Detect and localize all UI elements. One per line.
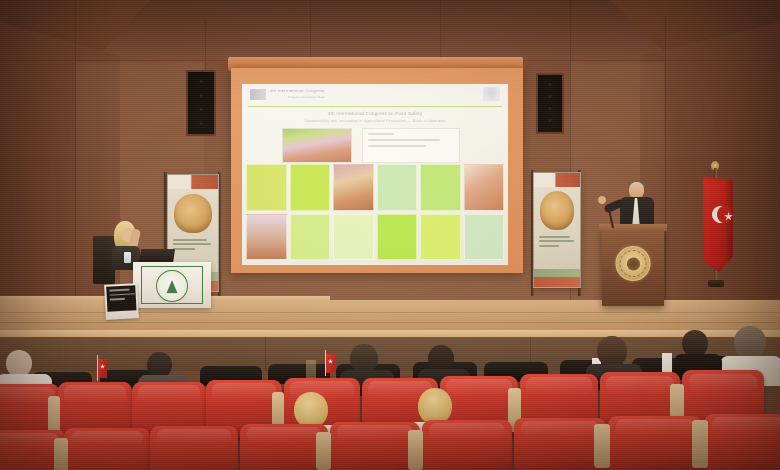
walnut-brain-icon: [540, 191, 575, 230]
slide-tile-photo: [333, 164, 374, 211]
slide-tile: [290, 164, 331, 211]
attendee-head: [682, 330, 708, 357]
banner-text: [539, 236, 576, 250]
turkish-flag-stand: [697, 168, 735, 298]
banner-strip: [534, 269, 580, 277]
slide-header-text: 4th International Congress: [270, 88, 325, 93]
slide-tile: [290, 214, 331, 261]
turkish-flag-icon: [326, 354, 335, 373]
slide-title: 4th International Congress on Food Safet…: [242, 111, 508, 116]
desk-flag-turkish-1: [94, 355, 107, 381]
slide-tile-photo: [246, 214, 287, 261]
wall-speaker-left-icon: [186, 70, 216, 136]
seat[interactable]: [514, 418, 606, 470]
seat[interactable]: [608, 416, 702, 470]
armrest: [54, 438, 68, 470]
slide-tile: [246, 164, 287, 211]
slide-header: 4th International Congress Program and A…: [242, 84, 508, 106]
slide-tile: [420, 214, 461, 261]
attendee-head: [6, 350, 32, 377]
seat[interactable]: [704, 414, 780, 470]
turkish-flag-icon: [98, 359, 107, 378]
seat[interactable]: [240, 424, 328, 470]
turkish-flag-icon: [703, 176, 733, 272]
banner-footer-bar: [534, 277, 580, 287]
slide-note-block: [362, 128, 460, 163]
projected-slide: 4th International Congress Program and A…: [242, 84, 508, 265]
podium-top-surface: [599, 224, 667, 231]
table-sign: [104, 283, 139, 320]
slide-left-logo-icon: [250, 89, 266, 100]
seat[interactable]: [150, 426, 238, 470]
presenter-hand: [598, 196, 606, 204]
seat[interactable]: [422, 420, 512, 470]
desk-flag-turkish-2: [322, 350, 335, 376]
slide-tile-grid: [246, 164, 504, 260]
registration-table: [133, 262, 211, 308]
seat[interactable]: [64, 428, 150, 470]
slide-tile: [377, 164, 418, 211]
banner-text: [173, 239, 213, 253]
attendee-hair: [294, 392, 328, 428]
slide-subtitle: Sustainability and Innovation in Agricul…: [242, 118, 508, 123]
attendee-head: [350, 344, 378, 373]
slide-divider: [248, 106, 502, 107]
slide-tile: [333, 214, 374, 261]
banner-right: [533, 172, 581, 288]
stage-wood-line: [0, 322, 780, 323]
walnut-brain-icon: [174, 194, 212, 233]
auditorium-scene: 4th International Congress Program and A…: [0, 0, 780, 470]
attendee-head: [428, 345, 454, 372]
cup-icon: [124, 252, 131, 263]
slide-header-subtext: Program and Abstract Book: [288, 95, 325, 99]
armrest: [408, 430, 423, 470]
slide-tile: [377, 214, 418, 261]
banner-header-bar: [534, 173, 580, 187]
aisle-step: [306, 360, 316, 378]
attendee-head: [734, 326, 766, 359]
banner-header-bar: [168, 175, 218, 189]
slide-tile-photo: [464, 164, 505, 211]
university-seal-emblem-icon: [616, 246, 651, 281]
armrest: [692, 420, 708, 468]
wall-seam: [440, 0, 441, 58]
wall-seam: [205, 20, 206, 70]
wall-speaker-right-icon: [536, 73, 564, 134]
armrest: [594, 424, 610, 468]
slide-hero-photo: [282, 128, 352, 163]
speaker-podium: [602, 228, 664, 306]
organization-tree-logo-icon: [156, 270, 188, 302]
wall-seam: [310, 0, 311, 58]
stage-panel-seam: [265, 337, 266, 371]
slide-tile: [420, 164, 461, 211]
table-sign-face: [106, 285, 136, 311]
wall-seam: [665, 16, 666, 316]
attendee-head: [597, 336, 627, 367]
crescent-icon: [712, 206, 729, 223]
seat[interactable]: [330, 422, 420, 470]
flag-base: [708, 280, 724, 287]
armrest: [316, 432, 331, 470]
slide-tile: [464, 214, 505, 261]
slide-right-logo-icon: [483, 87, 500, 101]
